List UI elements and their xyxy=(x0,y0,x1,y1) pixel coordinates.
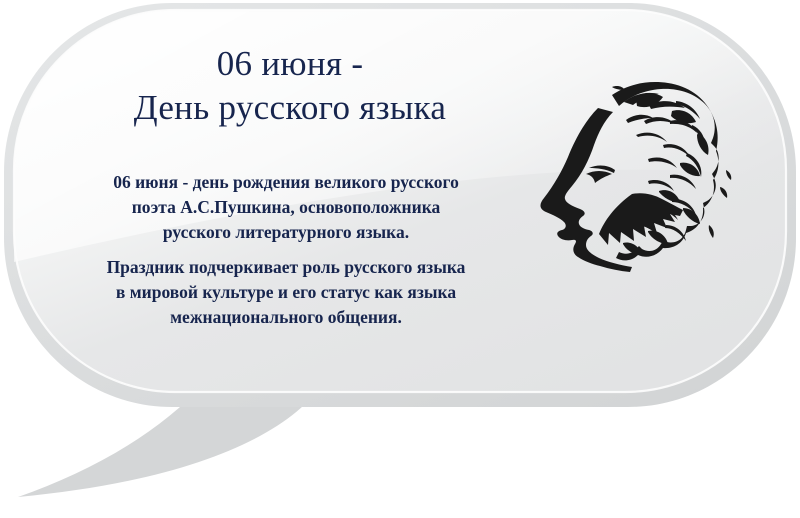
paragraph-birthday: 06 июня - день рождения великого русског… xyxy=(36,170,536,245)
page-title: 06 июня - День русского языка xyxy=(40,42,540,130)
poster-canvas: 06 июня - День русского языка 06 июня - … xyxy=(0,0,800,518)
pushkin-profile-icon xyxy=(520,75,760,290)
paragraph-significance: Праздник подчеркивает роль русского язык… xyxy=(36,255,536,330)
